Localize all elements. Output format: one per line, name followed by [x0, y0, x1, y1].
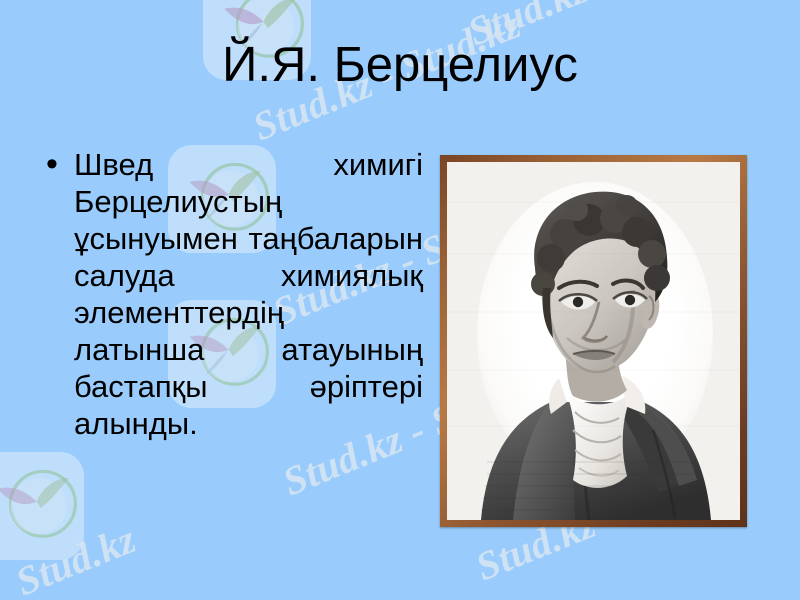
- slide-body: • Швед химигі Берцелиустың ұсынуымен таң…: [38, 146, 423, 442]
- portrait-engraving-image: [447, 162, 740, 520]
- portrait-frame: Й.Я. Берцелиус портреті: [440, 155, 747, 527]
- site-watermark: Stud.kz: [9, 515, 142, 600]
- slide-title: Й.Я. Берцелиус: [0, 40, 800, 91]
- hummingbird-logo-watermark: [0, 452, 84, 560]
- bullet-glyph: •: [38, 146, 74, 183]
- portrait-mat: Й.Я. Берцелиус портреті: [447, 162, 740, 520]
- body-paragraph: Швед химигі Берцелиустың ұсынуымен таңба…: [74, 146, 423, 442]
- presentation-slide: Stud.kz - Stud.kz Stud.kz - Stud.kz Stud…: [0, 0, 800, 600]
